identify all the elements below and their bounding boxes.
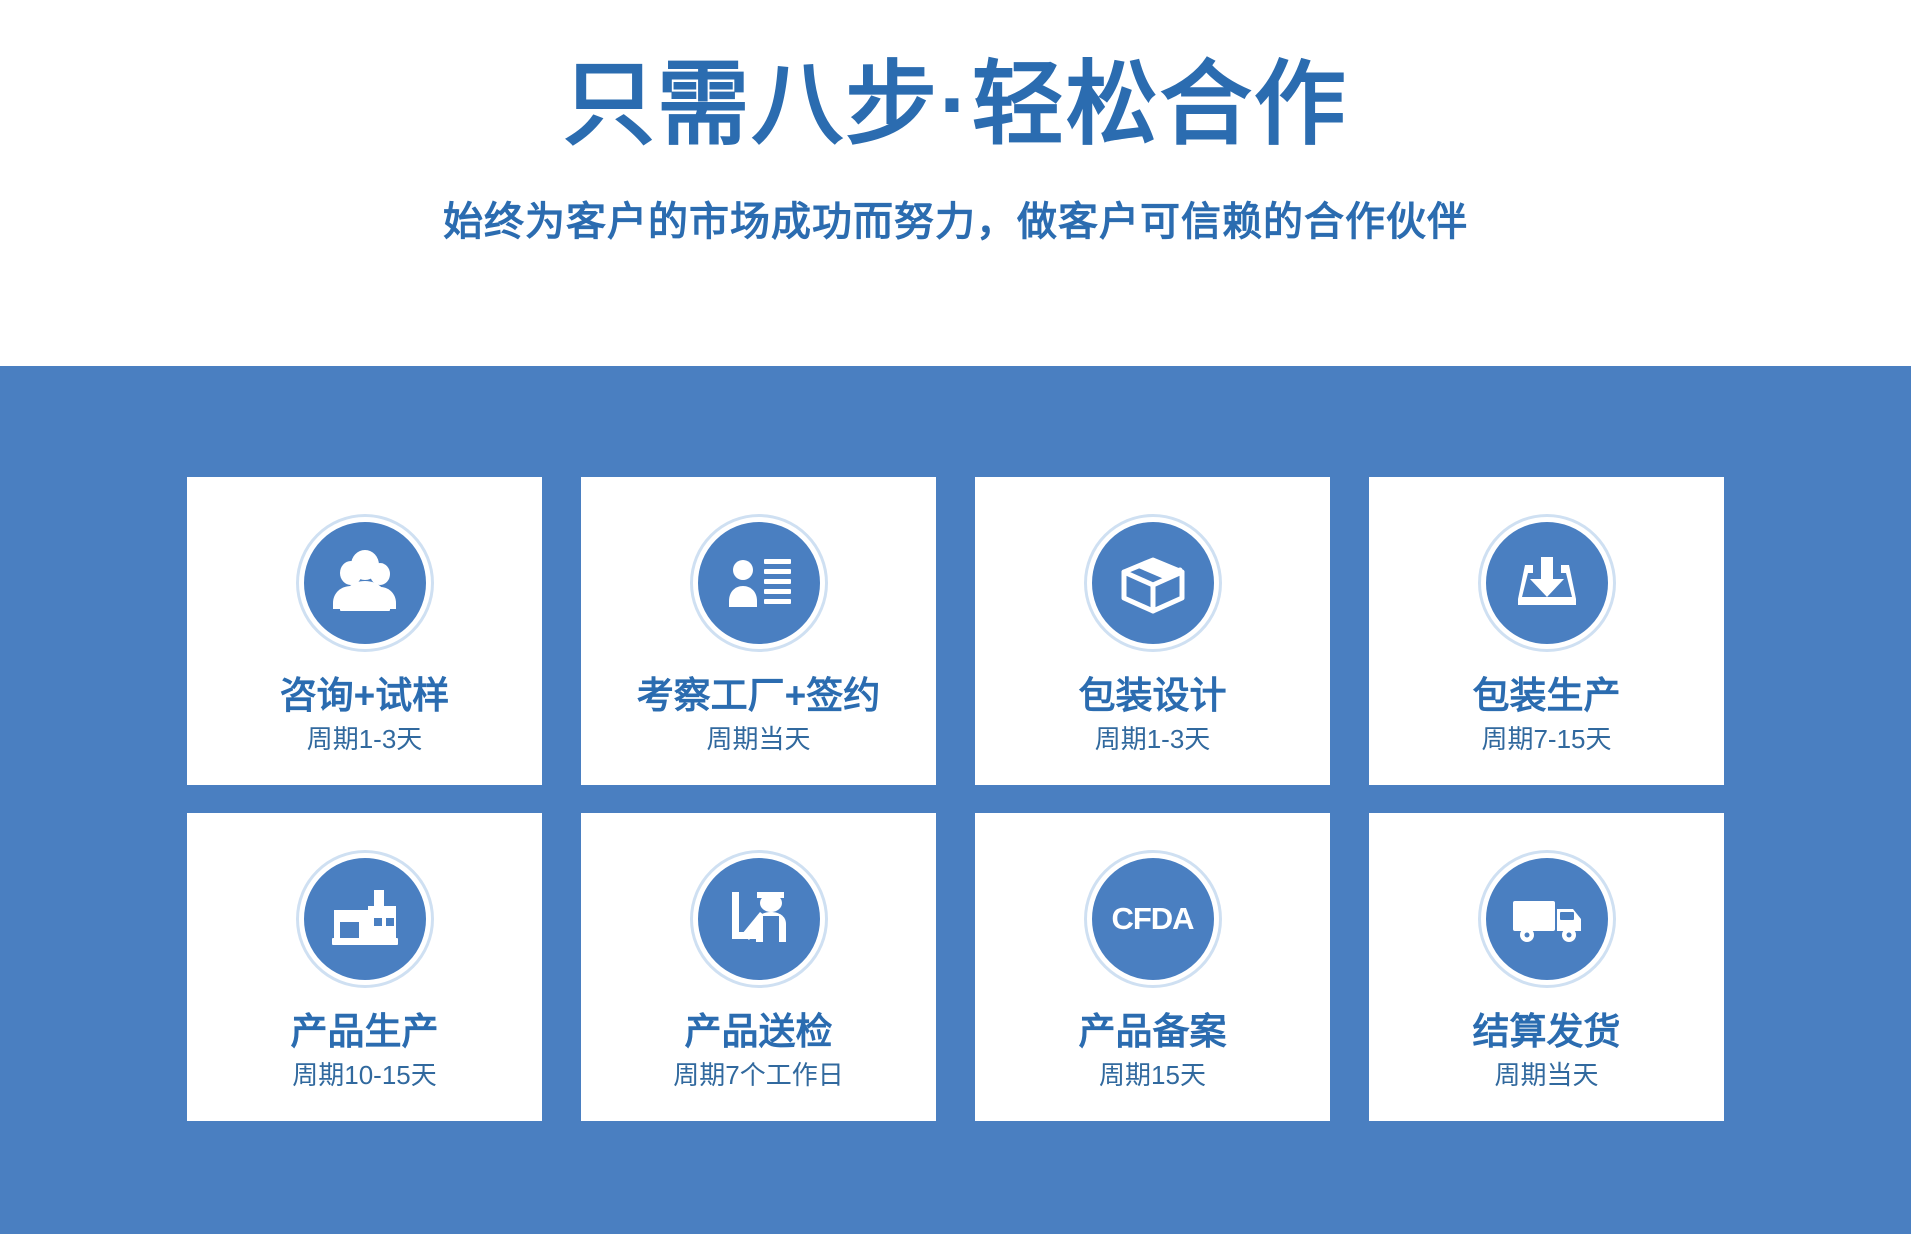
step-card-3[interactable]: 包装设计 周期1-3天 [975,477,1330,785]
factory-icon [299,853,431,985]
inspector-person-icon [693,853,825,985]
step-duration: 周期10-15天 [292,1061,437,1091]
step-title: 咨询+试样 [280,675,450,718]
step-duration: 周期7-15天 [1481,725,1611,755]
header: 只需八步·轻松合作 始终为客户的市场成功而努力，做客户可信赖的合作伙伴 [0,0,1911,366]
step-card-8[interactable]: 结算发货 周期当天 [1369,813,1724,1121]
step-card-4[interactable]: 包装生产 周期7-15天 [1369,477,1724,785]
users-group-icon [299,517,431,649]
step-duration: 周期当天 [1494,1061,1598,1091]
cfda-label: CFDA [1111,901,1193,937]
page-title: 只需八步·轻松合作 [563,56,1348,155]
step-card-2[interactable]: 考察工厂+签约 周期当天 [581,477,936,785]
delivery-truck-icon [1481,853,1613,985]
page-root: 只需八步·轻松合作 始终为客户的市场成功而努力，做客户可信赖的合作伙伴 [0,0,1911,1256]
step-duration: 周期15天 [1099,1061,1206,1091]
step-duration: 周期1-3天 [307,725,423,755]
step-duration: 周期7个工作日 [673,1061,843,1091]
step-title: 产品备案 [1079,1011,1227,1054]
open-box-package-icon [1087,517,1219,649]
cfda-text-icon: CFDA [1087,853,1219,985]
step-duration: 周期当天 [706,725,810,755]
step-card-1[interactable]: 咨询+试样 周期1-3天 [187,477,542,785]
step-title: 包装生产 [1473,675,1621,718]
step-title: 产品送检 [685,1011,833,1054]
step-title: 考察工厂+签约 [637,675,881,718]
step-card-6[interactable]: 产品送检 周期7个工作日 [581,813,936,1121]
contract-person-document-icon [693,517,825,649]
step-card-5[interactable]: 产品生产 周期10-15天 [187,813,542,1121]
page-subtitle: 始终为客户的市场成功而努力，做客户可信赖的合作伙伴 [443,189,1468,247]
download-tray-icon [1481,517,1613,649]
step-duration: 周期1-3天 [1095,725,1211,755]
step-card-7[interactable]: CFDA 产品备案 周期15天 [975,813,1330,1121]
steps-panel: 咨询+试样 周期1-3天 [0,366,1911,1234]
footer-strip [0,1234,1911,1256]
step-title: 包装设计 [1079,675,1227,718]
step-title: 产品生产 [291,1011,439,1054]
step-title: 结算发货 [1473,1011,1621,1054]
steps-grid: 咨询+试样 周期1-3天 [170,477,1741,1121]
